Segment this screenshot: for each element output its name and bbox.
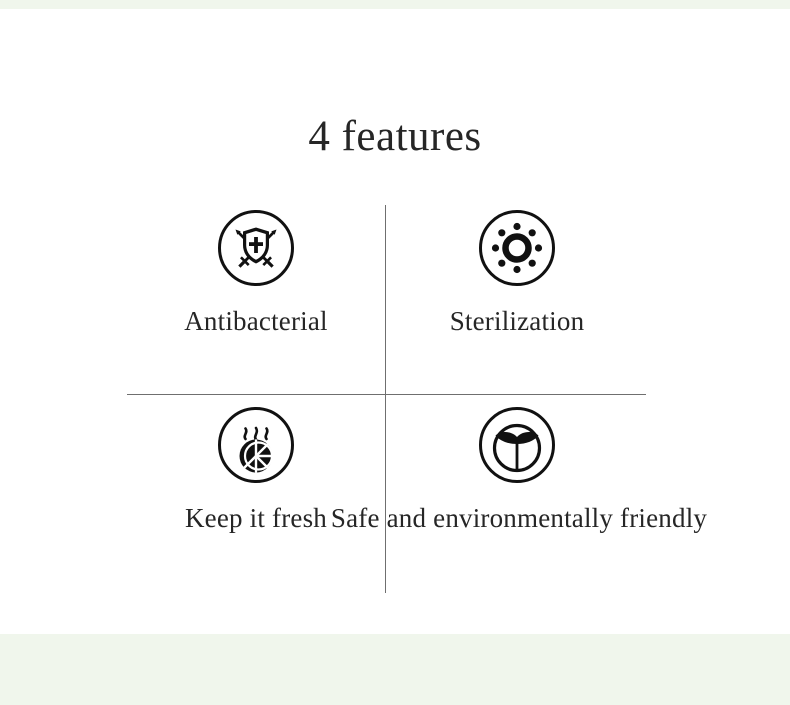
feature-infographic-page: 4 features	[0, 0, 790, 705]
sprout-leaf-icon	[388, 397, 646, 493]
feature-item-antibacterial: Antibacterial	[127, 200, 385, 339]
feature-label: Antibacterial	[127, 304, 385, 339]
bottom-accent-band	[0, 634, 790, 705]
sun-radiance-icon	[388, 200, 646, 296]
citrus-steam-icon	[127, 397, 385, 493]
page-title: 4 features	[0, 112, 790, 161]
shield-swords-icon	[127, 200, 385, 296]
features-grid: Antibacterial	[127, 200, 646, 596]
feature-item-eco-friendly: Safe and environmentally friendly	[388, 397, 646, 536]
top-accent-band	[0, 0, 790, 9]
feature-label: Sterilization	[388, 304, 646, 339]
feature-item-sterilization: Sterilization	[388, 200, 646, 339]
horizontal-divider	[127, 394, 646, 395]
feature-label: Safe and environmentally friendly	[317, 501, 721, 536]
